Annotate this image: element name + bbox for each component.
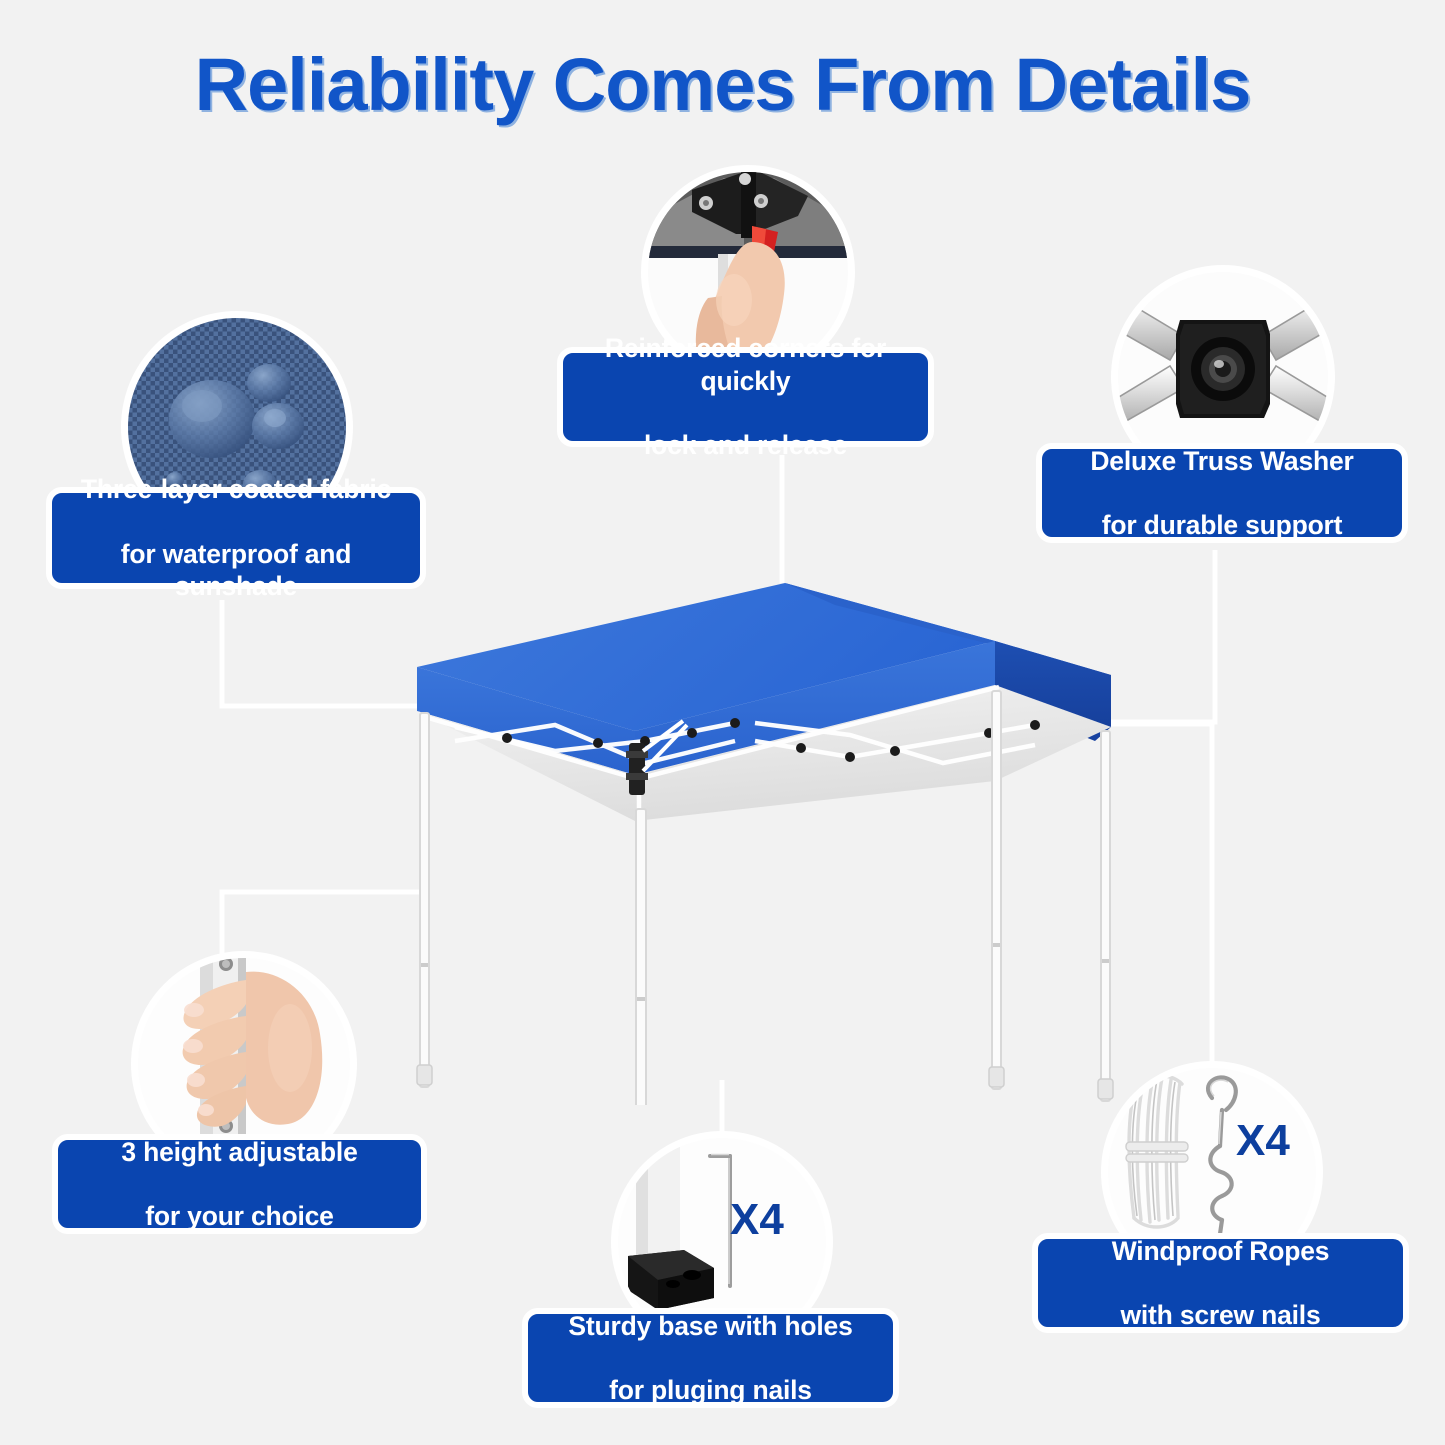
- canopy-tent-illustration: [395, 545, 1135, 1105]
- feature-label-windproof-ropes: Windproof Ropes with screw nails: [1032, 1233, 1409, 1333]
- feature-label-height-adjustable: 3 height adjustable for your choice: [52, 1134, 427, 1234]
- page-title: Reliability Comes From Details: [0, 42, 1445, 127]
- label-line-1: Sturdy base with holes: [540, 1310, 881, 1342]
- label-line-2: with screw nails: [1050, 1299, 1391, 1331]
- quantity-badge-ropes: X4: [1236, 1116, 1290, 1166]
- label-line-2: for pluging nails: [540, 1374, 881, 1406]
- label-line-2: for waterproof and sunshade: [64, 538, 408, 603]
- label-line-1: Windproof Ropes: [1050, 1235, 1391, 1267]
- feature-label-three-layer-fabric: Three-layer coated fabric for waterproof…: [46, 487, 426, 589]
- quantity-badge-base: X4: [730, 1195, 784, 1245]
- label-line-2: lock and release: [575, 429, 916, 461]
- infographic-canvas: Reliability Comes From Details: [0, 0, 1445, 1445]
- feature-label-reinforced-corners: Reinforced corners for quickly lock and …: [557, 347, 934, 447]
- label-line-1: 3 height adjustable: [70, 1136, 409, 1168]
- label-line-1: Deluxe Truss Washer: [1054, 445, 1390, 477]
- label-line-2: for durable support: [1054, 509, 1390, 541]
- feature-label-sturdy-base: Sturdy base with holes for pluging nails: [522, 1308, 899, 1408]
- feature-label-truss-washer: Deluxe Truss Washer for durable support: [1036, 443, 1408, 543]
- label-line-1: Reinforced corners for quickly: [575, 332, 916, 397]
- label-line-2: for your choice: [70, 1200, 409, 1232]
- label-line-1: Three-layer coated fabric: [64, 473, 408, 505]
